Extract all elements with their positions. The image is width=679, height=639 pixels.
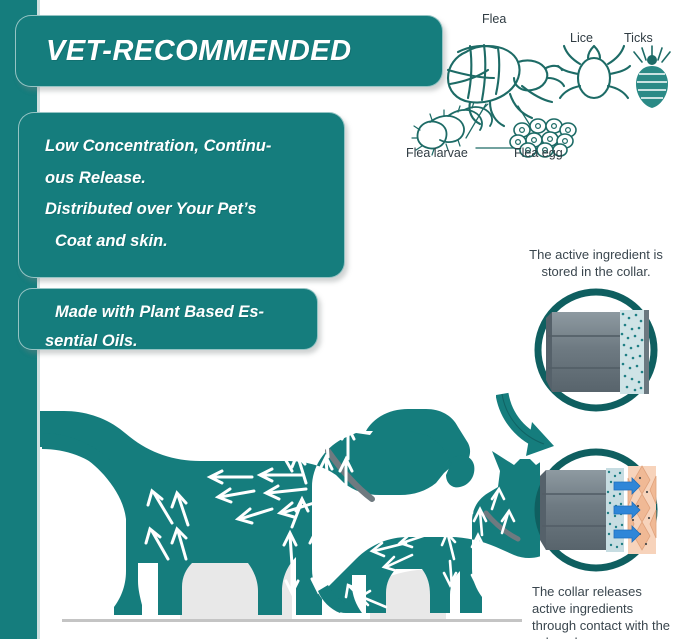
product-infographic: VET-RECOMMENDED Low Concentration, Conti… <box>0 0 679 639</box>
pet-silhouettes-graphic <box>40 395 540 639</box>
parasite-label-ticks: Ticks <box>624 31 653 45</box>
transfer-arrows <box>614 478 640 542</box>
parasite-label-flea: Flea <box>482 12 506 26</box>
benefit-panel-release: Low Concentration, Continu- ous Release.… <box>18 112 345 278</box>
benefit-line: Made with Plant Based Es- <box>45 298 303 327</box>
tick-icon-body <box>634 46 670 108</box>
vet-recommended-badge: VET-RECOMMENDED <box>15 15 443 87</box>
benefit-line: Low Concentration, Continu- <box>45 131 324 163</box>
parasite-label-flea-larvae: Flea larvae <box>406 146 468 160</box>
collar-cross-section-icon <box>516 284 676 419</box>
benefit-line: Coat and skin. <box>45 226 324 258</box>
callout-bottom-text: The collar releases active ingredients t… <box>516 583 676 639</box>
parasite-diagram: Flea Lice Ticks Flea larvae Flea egg <box>398 8 679 180</box>
vet-recommended-label: VET-RECOMMENDED <box>46 37 352 66</box>
pet-diffusion-illustration <box>40 395 540 639</box>
benefit-panel-oils: Made with Plant Based Es- sential Oils. <box>18 288 318 350</box>
ground-line <box>62 619 522 622</box>
parasite-label-flea-egg: Flea egg <box>514 146 563 160</box>
callout-active-ingredient: The active ingredient is stored in the c… <box>516 246 676 419</box>
collar-sebum-transfer-icon <box>516 448 676 581</box>
callout-sebum-release: The collar releases active ingredients t… <box>516 448 676 639</box>
parasite-label-lice: Lice <box>570 31 593 45</box>
callout-top-text: The active ingredient is stored in the c… <box>516 246 676 280</box>
benefit-line: Distributed over Your Pet’s <box>45 194 324 226</box>
benefit-line: ous Release. <box>45 163 324 195</box>
benefit-line: sential Oils. <box>45 327 303 356</box>
